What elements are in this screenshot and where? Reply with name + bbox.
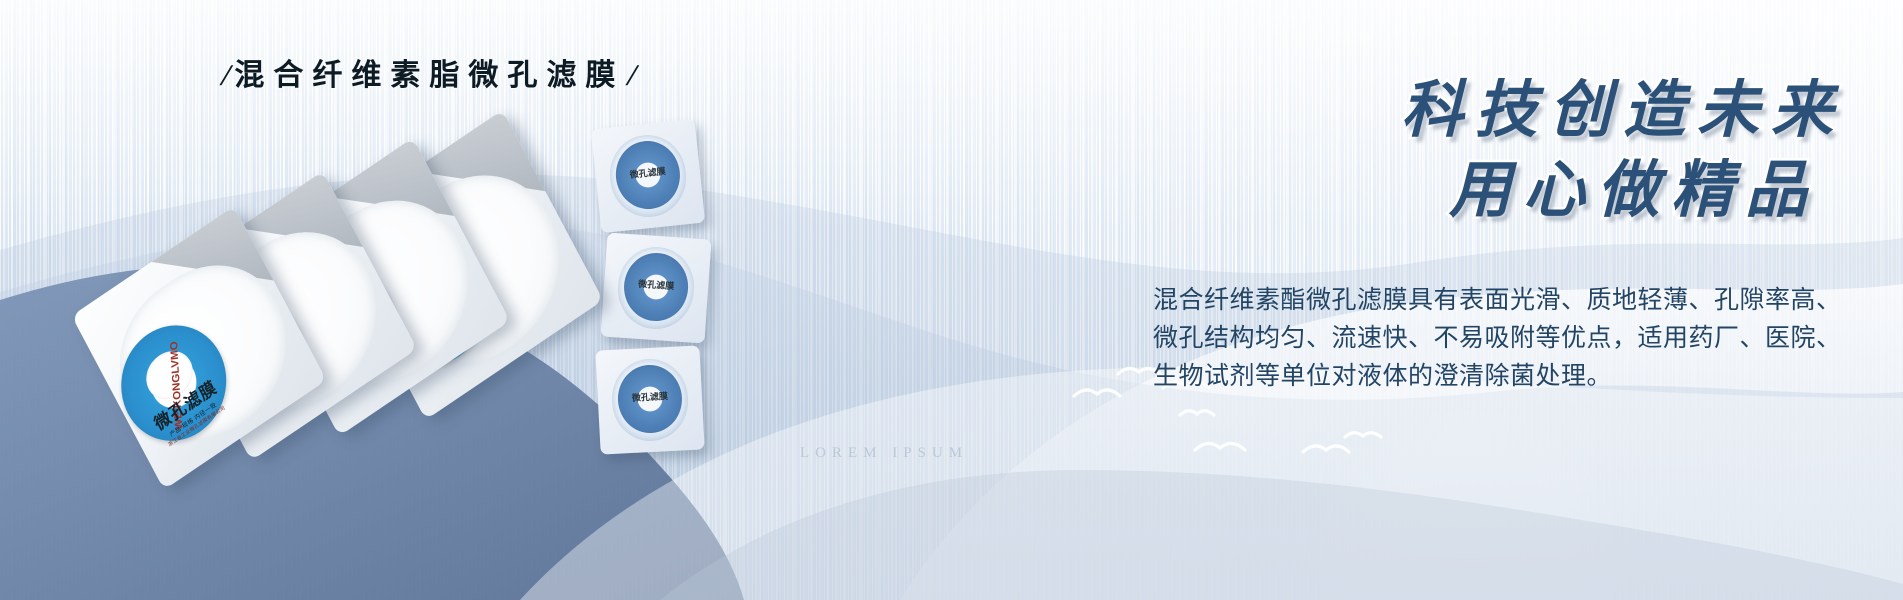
product-pack-group: WEIKONGLVMO 微孔滤膜 规格 内径 浙江省工业微孔滤膜有限公司 WEI… — [95, 130, 565, 430]
watermark-text: LOREM IPSUM — [800, 445, 968, 462]
chip-label-text-2: 微孔滤膜 — [624, 276, 689, 293]
chip-label-text-1: 微孔滤膜 — [615, 163, 680, 183]
description-line-2: 微孔结构均匀、流速快、不易吸附等优点，适用药厂、医院、 — [1153, 320, 1853, 358]
slash-right-decoration: / — [624, 59, 641, 93]
product-category-heading: /混合纤维素脂微孔滤膜/ — [218, 50, 641, 94]
description-paragraph: 混合纤维素酯微孔滤膜具有表面光滑、质地轻薄、孔隙率高、 微孔结构均匀、流速快、不… — [1153, 282, 1853, 396]
membrane-chip-1: 微孔滤膜 — [591, 119, 705, 233]
membrane-chip-3: 微孔滤膜 — [595, 345, 704, 454]
description-line-3: 生物试剂等单位对液体的澄清除菌处理。 — [1153, 358, 1853, 396]
chip-label-text-3: 微孔滤膜 — [617, 388, 682, 404]
description-line-1: 混合纤维素酯微孔滤膜具有表面光滑、质地轻薄、孔隙率高、 — [1153, 282, 1853, 320]
headline-line-2: 用心做精品 — [1113, 158, 1819, 224]
membrane-chip-2: 微孔滤膜 — [600, 232, 711, 343]
slash-left-decoration: / — [218, 59, 235, 93]
product-banner: LOREM IPSUM WEIKONGLVMO 微孔滤膜 规格 内径 浙江省工业… — [0, 0, 1903, 600]
product-category-heading-text: 混合纤维素脂微孔滤膜 — [234, 59, 624, 92]
headline-line-1: 科技创造未来 — [1113, 78, 1845, 144]
headline-group: 科技创造未来 用心做精品 — [1113, 78, 1853, 225]
